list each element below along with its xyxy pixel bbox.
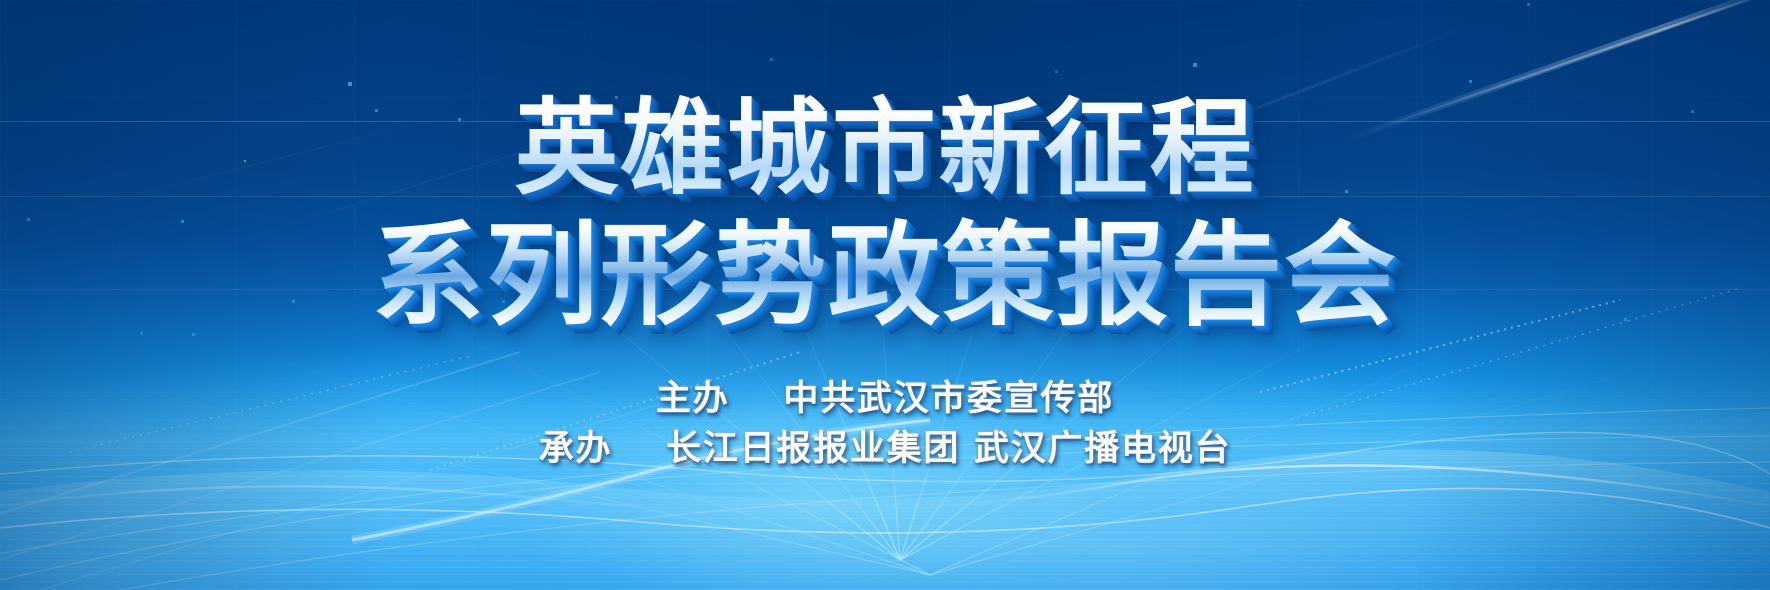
credit-organizer-label: 主办: [656, 379, 730, 419]
event-banner: 英雄城市新征程 英雄城市新征程 系列形势政策报告会 系列形势政策报告会 主办 中…: [0, 0, 1770, 590]
banner-title-block: 英雄城市新征程 英雄城市新征程 系列形势政策报告会 系列形势政策报告会: [0, 96, 1770, 338]
title-line-1-text: 英雄城市新征程: [514, 87, 1255, 209]
credit-host-line: 承办 长江日报报业集团 武汉广播电视台: [0, 424, 1770, 474]
credit-host-value: 长江日报报业集团 武汉广播电视台: [666, 429, 1231, 469]
banner-credits: 主办 中共武汉市委宣传部 承办 长江日报报业集团 武汉广播电视台: [0, 374, 1770, 474]
credit-host-label: 承办: [539, 429, 613, 469]
title-line-2-text: 系列形势政策报告会: [372, 211, 1398, 341]
credit-organizer-value: 中共武汉市委宣传部: [783, 379, 1114, 419]
title-line-2: 系列形势政策报告会 系列形势政策报告会: [0, 220, 1770, 338]
credit-organizer-line: 主办 中共武汉市委宣传部: [0, 374, 1770, 424]
title-line-1: 英雄城市新征程 英雄城市新征程: [0, 96, 1770, 208]
